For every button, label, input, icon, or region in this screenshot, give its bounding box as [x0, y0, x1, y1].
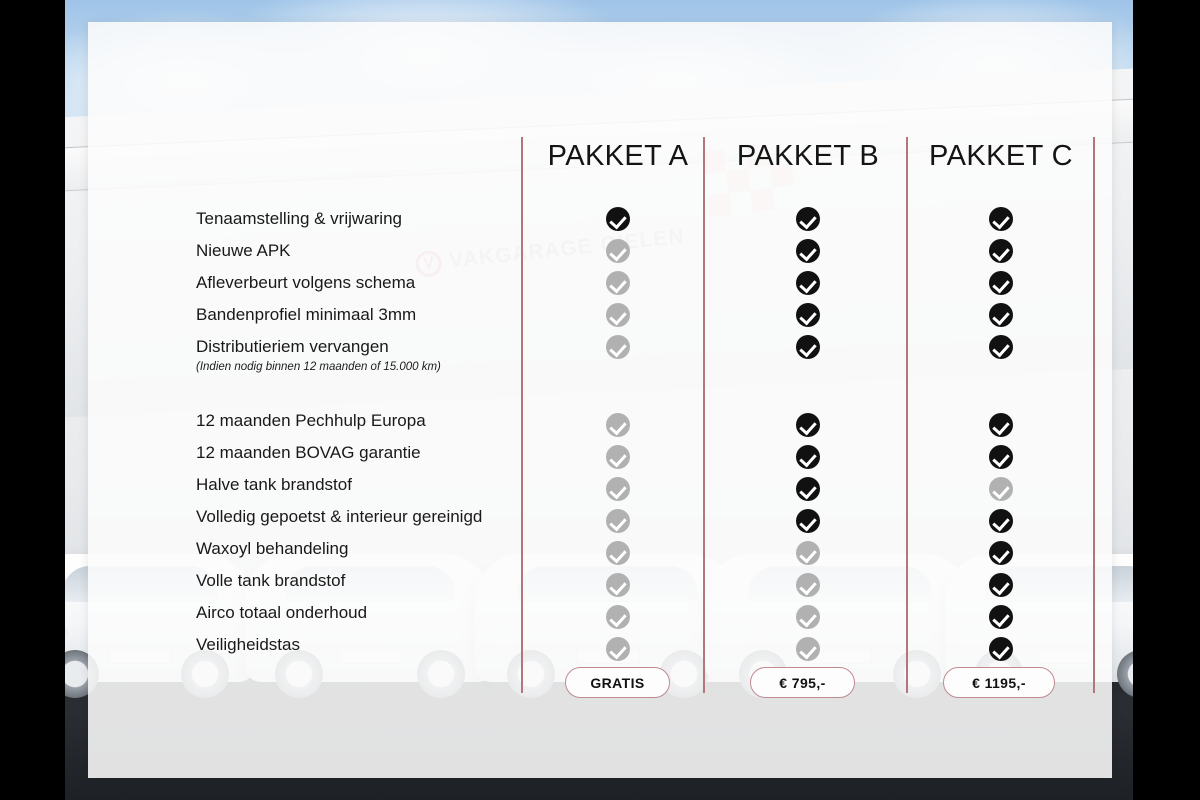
screenshot-canvas: V VAKGARAGE GIELEN: [0, 0, 1200, 800]
check-included-icon: [989, 207, 1013, 231]
check-cell: [713, 569, 903, 601]
check-excluded-icon: [606, 541, 630, 565]
check-included-icon: [796, 335, 820, 359]
check-included-icon: [796, 445, 820, 469]
check-cell: [713, 473, 903, 505]
price-button-pakket-b[interactable]: € 795,-: [750, 667, 855, 698]
check-included-icon: [989, 413, 1013, 437]
check-cell: [523, 331, 713, 363]
check-excluded-icon: [796, 541, 820, 565]
check-cell: [523, 235, 713, 267]
check-included-icon: [796, 303, 820, 327]
check-cell: [523, 441, 713, 473]
check-cell: [906, 299, 1096, 331]
check-cell: [906, 409, 1096, 441]
check-excluded-icon: [606, 573, 630, 597]
check-excluded-icon: [606, 605, 630, 629]
check-excluded-icon: [796, 637, 820, 661]
check-included-icon: [796, 271, 820, 295]
check-included-icon: [796, 477, 820, 501]
check-cell: [713, 235, 903, 267]
check-cell: [713, 537, 903, 569]
check-cell: [523, 267, 713, 299]
check-excluded-icon: [606, 239, 630, 263]
check-cell: [906, 537, 1096, 569]
check-excluded-icon: [989, 477, 1013, 501]
check-cell: [713, 441, 903, 473]
check-included-icon: [606, 207, 630, 231]
check-included-icon: [989, 509, 1013, 533]
check-cell: [523, 537, 713, 569]
check-included-icon: [989, 303, 1013, 327]
check-cell: [713, 299, 903, 331]
check-included-icon: [989, 271, 1013, 295]
check-excluded-icon: [796, 573, 820, 597]
check-column-pakket-a: [523, 203, 713, 665]
check-cell: [523, 601, 713, 633]
check-cell: [906, 633, 1096, 665]
check-cell: [906, 473, 1096, 505]
check-group-group-1: [523, 203, 713, 363]
check-included-icon: [989, 239, 1013, 263]
check-included-icon: [989, 605, 1013, 629]
check-cell: [906, 505, 1096, 537]
check-cell: [713, 633, 903, 665]
check-cell: [713, 203, 903, 235]
check-excluded-icon: [796, 605, 820, 629]
check-excluded-icon: [606, 413, 630, 437]
check-group-spacer: [713, 363, 903, 409]
check-excluded-icon: [606, 637, 630, 661]
check-included-icon: [989, 541, 1013, 565]
check-included-icon: [796, 413, 820, 437]
check-cell: [523, 409, 713, 441]
check-group-group-1: [713, 203, 903, 363]
check-excluded-icon: [606, 477, 630, 501]
check-column-pakket-c: [906, 203, 1096, 665]
column-header-pakket-b: PAKKET B: [713, 140, 903, 173]
check-cell: [523, 203, 713, 235]
check-excluded-icon: [606, 335, 630, 359]
check-cell: [713, 267, 903, 299]
check-cell: [906, 267, 1096, 299]
check-cell: [906, 203, 1096, 235]
check-cell: [523, 299, 713, 331]
check-cell: [523, 505, 713, 537]
check-cell: [523, 473, 713, 505]
column-header-pakket-c: PAKKET C: [906, 140, 1096, 173]
check-excluded-icon: [606, 445, 630, 469]
check-included-icon: [989, 637, 1013, 661]
check-group-spacer: [523, 363, 713, 409]
check-group-group-2: [906, 409, 1096, 665]
check-excluded-icon: [606, 303, 630, 327]
check-cell: [523, 569, 713, 601]
check-cell: [906, 331, 1096, 363]
check-cell: [906, 569, 1096, 601]
check-included-icon: [796, 509, 820, 533]
check-group-group-1: [906, 203, 1096, 363]
check-cell: [713, 601, 903, 633]
check-excluded-icon: [606, 509, 630, 533]
price-button-pakket-a[interactable]: GRATIS: [565, 667, 670, 698]
comparison-panel: PAKKET A PAKKET B PAKKET C Tenaamstellin…: [88, 22, 1112, 778]
check-cell: [713, 409, 903, 441]
column-header-pakket-a: PAKKET A: [523, 140, 713, 173]
check-included-icon: [796, 207, 820, 231]
check-cell: [713, 331, 903, 363]
check-group-group-2: [713, 409, 903, 665]
check-cell: [713, 505, 903, 537]
check-included-icon: [989, 445, 1013, 469]
check-excluded-icon: [606, 271, 630, 295]
check-included-icon: [989, 573, 1013, 597]
check-included-icon: [796, 239, 820, 263]
check-cell: [523, 633, 713, 665]
check-group-group-2: [523, 409, 713, 665]
check-cell: [906, 441, 1096, 473]
check-group-spacer: [906, 363, 1096, 409]
check-column-pakket-b: [713, 203, 903, 665]
check-included-icon: [989, 335, 1013, 359]
check-cell: [906, 601, 1096, 633]
check-cell: [906, 235, 1096, 267]
price-button-pakket-c[interactable]: € 1195,-: [943, 667, 1055, 698]
